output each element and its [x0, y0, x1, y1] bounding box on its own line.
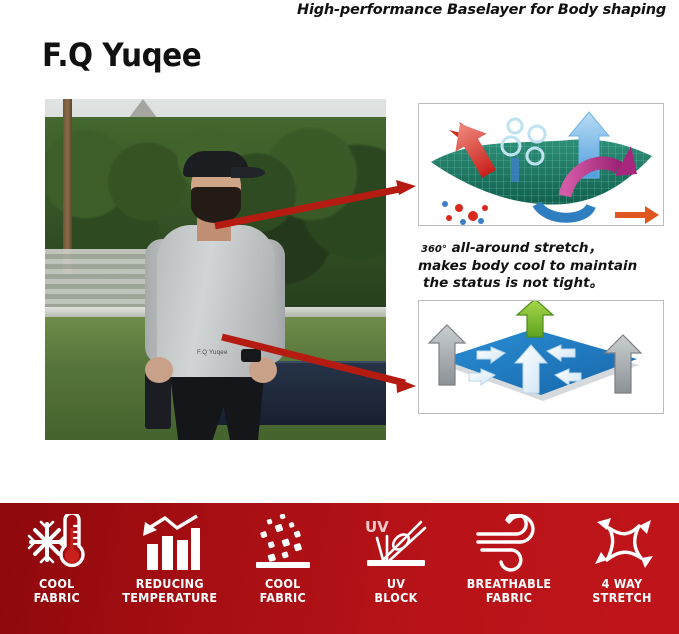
- wristwatch: [241, 349, 261, 362]
- degree-value: 360°: [421, 244, 447, 255]
- feature-reducing-temperature: REDUCING TEMPERATURE: [113, 503, 226, 605]
- feature-label: COOL FABRIC: [260, 577, 306, 605]
- feature-4-way-stretch: 4 WAY STRETCH: [566, 503, 679, 605]
- utility-pole: [63, 99, 72, 274]
- feature-breathable-fabric: BREATHABLE FABRIC: [453, 503, 566, 605]
- stretch-line-2: makes body cool to maintain: [418, 258, 671, 275]
- feature-banner: COOL FABRIC REDUCING TEMPERATURE: [0, 503, 679, 634]
- stretch-line-1: all-around stretch，: [447, 240, 602, 256]
- model-beard: [191, 187, 241, 223]
- page-title: F.Q Yuqee: [42, 36, 201, 74]
- feature-label: BREATHABLE FABRIC: [467, 577, 552, 605]
- four-way-stretch-icon: [589, 512, 655, 574]
- snowflake-thermometer-icon: [26, 512, 88, 574]
- stretch-diagram-panel: [418, 103, 664, 226]
- breathability-diagram-illustration: [419, 301, 663, 413]
- feature-label: REDUCING TEMPERATURE: [122, 577, 217, 605]
- cap-brim: [231, 167, 265, 178]
- svg-text:UV: UV: [365, 518, 389, 536]
- bar-chart-down-arrow-icon: [139, 512, 201, 574]
- chest-logo-text: F.Q Yuqee: [197, 349, 228, 356]
- feature-cool-fabric-2: COOL FABRIC: [226, 503, 339, 605]
- uv-block-icon: UV: [363, 512, 429, 574]
- particles-rising-icon: [252, 512, 314, 574]
- feature-label: UV BLOCK: [374, 577, 417, 605]
- feature-cool-fabric-1: COOL FABRIC: [0, 503, 113, 605]
- model-left-hand: [145, 357, 173, 383]
- feature-label: COOL FABRIC: [33, 577, 79, 605]
- stretch-description: 360° all-around stretch， makes body cool…: [421, 240, 671, 292]
- feature-label: 4 WAY STRETCH: [593, 577, 652, 605]
- feature-uv-block: UV UV BLOCK: [340, 503, 453, 605]
- tagline: High-performance Baselayer for Body shap…: [266, 2, 666, 18]
- breathability-diagram-panel: [418, 300, 664, 414]
- stretch-diagram-illustration: [419, 104, 663, 225]
- wind-swirl-icon: [476, 512, 542, 574]
- stretch-line-3: the status is not tight。: [423, 275, 671, 292]
- product-photo: F.Q Yuqee: [45, 99, 386, 440]
